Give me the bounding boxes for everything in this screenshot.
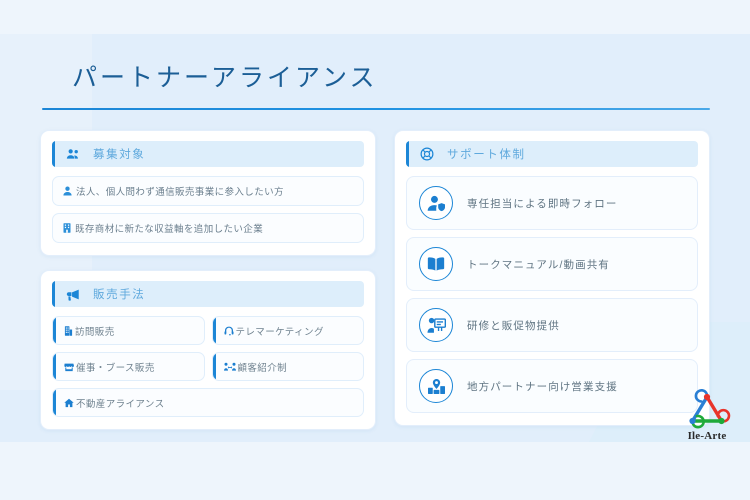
list-item[interactable]: 法人、個人問わず通信販売事業に参入したい方: [52, 176, 364, 206]
header-accent-bar: [52, 281, 55, 307]
grid-item-label: 訪問販売: [75, 324, 115, 338]
building-icon: [63, 223, 71, 233]
building-icon: [64, 326, 73, 336]
headset-icon: [224, 326, 234, 336]
home-icon: [64, 398, 74, 408]
page-root: パートナーアライアンス 募集対象: [0, 0, 750, 500]
map-location-icon: [419, 369, 453, 403]
grid-item[interactable]: 不動産アライアンス: [52, 388, 364, 417]
page-header: パートナーアライアンス: [42, 58, 710, 110]
support-item-label: トークマニュアル/動画共有: [467, 257, 610, 272]
item-accent-bar: [213, 352, 216, 381]
brand-logo: Ile-Arte: [676, 389, 738, 442]
card-header-label: 販売手法: [93, 286, 145, 302]
grid-item-label: 催事・ブース販売: [76, 360, 155, 374]
support-item[interactable]: トークマニュアル/動画共有: [406, 237, 698, 291]
item-accent-bar: [53, 388, 56, 417]
grid-item-label: 不動産アライアンス: [76, 396, 165, 410]
book-icon: [419, 247, 453, 281]
grid-item[interactable]: 催事・ブース販売: [52, 352, 205, 381]
right-column: サポート体制 専任担当による即時フォロー: [394, 130, 710, 426]
grid-item[interactable]: 顧客紹介制: [212, 352, 365, 381]
logo-mark: [682, 389, 732, 431]
bullhorn-icon: [62, 288, 84, 301]
list-item-label: 法人、個人問わず通信販売事業に参入したい方: [76, 184, 284, 198]
logo-text: Ile-Arte: [676, 430, 738, 442]
list-item[interactable]: 既存商材に新たな収益軸を追加したい企業: [52, 213, 364, 243]
grid-item-label: 顧客紹介制: [238, 360, 288, 374]
card-header-label: 募集対象: [93, 146, 145, 162]
list-item-label: 既存商材に新たな収益軸を追加したい企業: [75, 221, 263, 235]
card-header-label: サポート体制: [447, 146, 526, 162]
header-accent-bar: [406, 141, 409, 167]
support-item-label: 地方パートナー向け営業支援: [467, 379, 618, 394]
card-header: 募集対象: [52, 141, 364, 167]
sales-method-grid: 訪問販売 テレマーケティング: [52, 316, 364, 417]
page-title: パートナーアライアンス: [42, 58, 710, 108]
users-icon: [62, 148, 84, 160]
card-support-structure: サポート体制 専任担当による即時フォロー: [394, 130, 710, 426]
grid-item-label: テレマーケティング: [236, 324, 324, 338]
item-accent-bar: [53, 352, 56, 381]
support-item-label: 研修と販促物提供: [467, 318, 560, 333]
store-icon: [64, 362, 74, 372]
user-shield-icon: [419, 186, 453, 220]
person-chalkboard-icon: [419, 308, 453, 342]
grid-item[interactable]: テレマーケティング: [212, 316, 365, 345]
card-header: 販売手法: [52, 281, 364, 307]
item-accent-bar: [213, 316, 216, 345]
support-item[interactable]: 専任担当による即時フォロー: [406, 176, 698, 230]
user-icon: [63, 186, 72, 196]
card-recruitment-target: 募集対象 法人、個人問わず通信販売事業に参入したい方: [40, 130, 376, 256]
title-underline: [42, 108, 710, 110]
support-item-label: 専任担当による即時フォロー: [467, 196, 617, 211]
card-header: サポート体制: [406, 141, 698, 167]
content-columns: 募集対象 法人、個人問わず通信販売事業に参入したい方: [40, 130, 710, 430]
grid-item[interactable]: 訪問販売: [52, 316, 205, 345]
people-arrows-icon: [224, 362, 236, 372]
support-item[interactable]: 地方パートナー向け営業支援: [406, 359, 698, 413]
card-sales-methods: 販売手法: [40, 270, 376, 430]
support-item[interactable]: 研修と販促物提供: [406, 298, 698, 352]
header-accent-bar: [52, 141, 55, 167]
left-column: 募集対象 法人、個人問わず通信販売事業に参入したい方: [40, 130, 376, 430]
lifebuoy-icon: [416, 147, 438, 161]
item-accent-bar: [53, 316, 56, 345]
